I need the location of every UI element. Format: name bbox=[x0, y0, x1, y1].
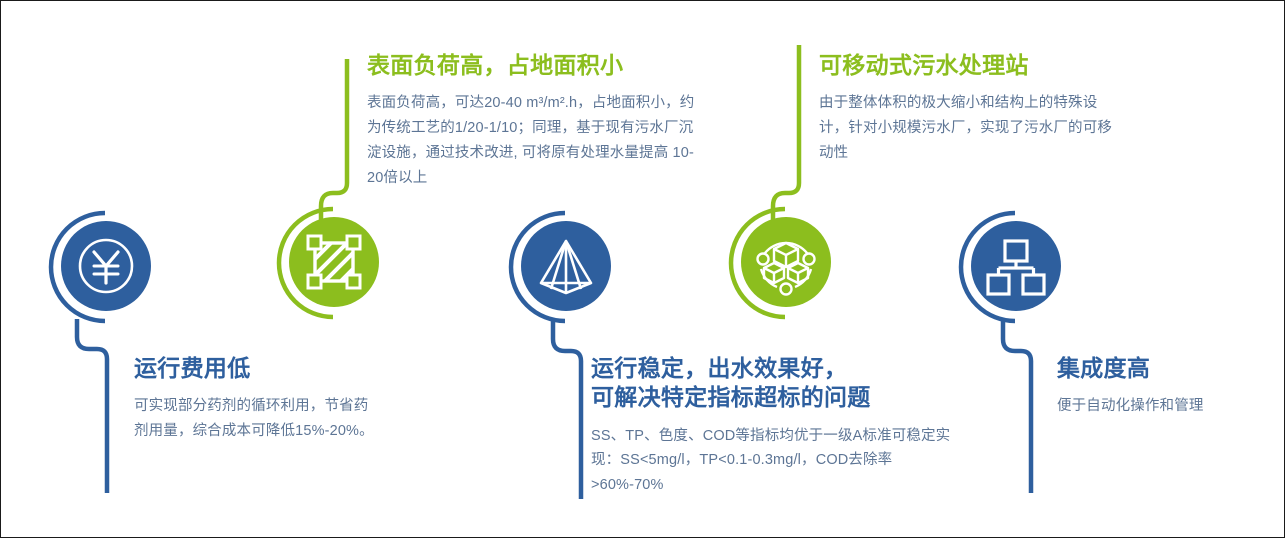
card-body: 表面负荷高，可达20-40 m³/m².h，占地面积小，约为传统工艺的1/20-… bbox=[367, 91, 707, 191]
icon-badge-mobile-station bbox=[727, 205, 843, 321]
yen-coin-icon bbox=[61, 221, 151, 311]
hierarchy-org-chart-icon bbox=[971, 221, 1061, 311]
connector-surface-load bbox=[321, 59, 347, 223]
card-stable-operation: 运行稳定，出水效果好， 可解决特定指标超标的问题 SS、TP、色度、COD等指标… bbox=[591, 354, 951, 497]
land-area-hatched-square-icon bbox=[289, 217, 379, 307]
card-heading: 运行费用低 bbox=[134, 354, 374, 383]
card-mobile-station: 可移动式污水处理站 由于整体体积的极大缩小和结构上的特殊设计，针对小规模污水厂，… bbox=[819, 51, 1119, 166]
card-integration: 集成度高 便于自动化操作和管理 bbox=[1057, 354, 1277, 419]
connector-operating-cost bbox=[77, 319, 107, 493]
card-heading: 集成度高 bbox=[1057, 354, 1277, 383]
icon-badge-integration bbox=[957, 209, 1073, 325]
stacked-cubes-network-icon bbox=[741, 217, 831, 307]
connector-stable-operation bbox=[553, 321, 581, 499]
card-surface-load: 表面负荷高，占地面积小 表面负荷高，可达20-40 m³/m².h，占地面积小，… bbox=[367, 51, 707, 191]
card-operating-cost: 运行费用低 可实现部分药剂的循环利用，节省药剂用量，综合成本可降低15%-20%… bbox=[134, 354, 374, 444]
connector-integration bbox=[1003, 321, 1031, 493]
card-heading: 表面负荷高，占地面积小 bbox=[367, 51, 707, 80]
card-heading: 运行稳定，出水效果好， 可解决特定指标超标的问题 bbox=[591, 354, 951, 413]
connector-mobile-station bbox=[773, 45, 799, 223]
icon-badge-surface-load bbox=[275, 205, 391, 321]
infographic-canvas: 表面负荷高，占地面积小 表面负荷高，可达20-40 m³/m².h，占地面积小，… bbox=[0, 0, 1285, 538]
card-heading: 可移动式污水处理站 bbox=[819, 51, 1119, 80]
card-body: SS、TP、色度、COD等指标均优于一级A标准可稳定实现：SS<5mg/l，TP… bbox=[591, 424, 951, 497]
icon-badge-operating-cost bbox=[47, 209, 163, 325]
pyramid-wireframe-icon bbox=[521, 221, 611, 311]
card-body: 由于整体体积的极大缩小和结构上的特殊设计，针对小规模污水厂，实现了污水厂的可移动… bbox=[819, 91, 1119, 166]
card-body: 可实现部分药剂的循环利用，节省药剂用量，综合成本可降低15%-20%。 bbox=[134, 394, 374, 444]
card-body: 便于自动化操作和管理 bbox=[1057, 394, 1277, 419]
icon-badge-stable-operation bbox=[507, 209, 623, 325]
